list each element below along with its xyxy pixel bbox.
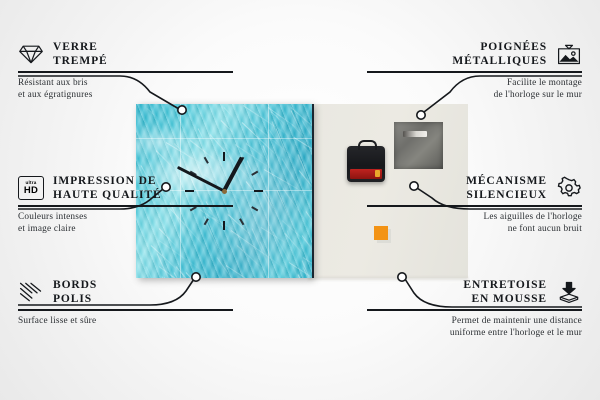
clock-tick-mark [204, 157, 209, 164]
feature-desc-line2: uniforme entre l'horloge et le mur [367, 327, 582, 339]
diamond-icon [18, 42, 44, 66]
feature-title: ENTRETOISE EN MOUSSE [463, 278, 547, 306]
feature-desc: Facilite le montage de l'horloge sur le … [367, 77, 582, 101]
feature-poignees-metalliques: POIGNÉES MÉTALLIQUES Facilite le montage… [367, 40, 582, 101]
feature-desc: Résistant aux bris et aux égratignures [18, 77, 233, 101]
feature-title-line2: EN MOUSSE [463, 292, 547, 306]
feature-header: ENTRETOISE EN MOUSSE [367, 278, 582, 306]
feature-title: BORDS POLIS [53, 278, 97, 306]
feature-desc-line1: Facilite le montage [367, 77, 582, 89]
feature-desc-line2: ne font aucun bruit [367, 223, 582, 235]
feature-desc-line2: de l'horloge sur le mur [367, 89, 582, 101]
feature-title-line1: POIGNÉES [452, 40, 547, 54]
feature-entretoise-en-mousse: ENTRETOISE EN MOUSSE Permet de maintenir… [367, 278, 582, 339]
feature-impression-haute-qualite: ultra HD IMPRESSION DE HAUTE QUALITÉ Cou… [18, 174, 233, 235]
divider [18, 309, 233, 311]
mechanism-bail [358, 140, 377, 150]
feature-mecanisme-silencieux: MÉCANISME SILENCIEUX Les aiguilles de l'… [367, 174, 582, 235]
feature-header: POIGNÉES MÉTALLIQUES [367, 40, 582, 68]
ultra-hd-badge-icon: ultra HD [18, 176, 44, 200]
feature-title-line1: MÉCANISME [466, 174, 547, 188]
feature-verre-trempe: VERRE TREMPÉ Résistant aux bris et aux é… [18, 40, 233, 101]
feature-header: VERRE TREMPÉ [18, 40, 233, 68]
feature-desc: Surface lisse et sûre [18, 315, 233, 327]
feature-desc: Les aiguilles de l'horloge ne font aucun… [367, 211, 582, 235]
feature-desc: Permet de maintenir une distance uniform… [367, 315, 582, 339]
feature-title-line2: POLIS [53, 292, 97, 306]
feature-title-line2: MÉTALLIQUES [452, 54, 547, 68]
feature-title: VERRE TREMPÉ [53, 40, 108, 68]
feature-desc-line1: Permet de maintenir une distance [367, 315, 582, 327]
feature-header: ultra HD IMPRESSION DE HAUTE QUALITÉ [18, 174, 233, 202]
divider [18, 205, 233, 207]
divider [367, 309, 582, 311]
feature-header: MÉCANISME SILENCIEUX [367, 174, 582, 202]
feature-bords-polis: BORDS POLIS Surface lisse et sûre [18, 278, 233, 327]
feature-desc-line1: Couleurs intenses [18, 211, 233, 223]
divider [367, 71, 582, 73]
divider [367, 205, 582, 207]
feature-header: BORDS POLIS [18, 278, 233, 306]
feature-title-line1: IMPRESSION DE [53, 174, 162, 188]
badge-main-label: HD [24, 186, 38, 196]
infographic-canvas: VERRE TREMPÉ Résistant aux bris et aux é… [0, 0, 600, 400]
foam-spacer-arrow-icon [556, 280, 582, 304]
feature-title-line1: VERRE [53, 40, 108, 54]
metal-hanger-plate [394, 122, 443, 169]
feature-title-line1: BORDS [53, 278, 97, 292]
gear-icon [556, 176, 582, 200]
feature-desc-line2: et aux égratignures [18, 89, 233, 101]
feature-title-line2: TREMPÉ [53, 54, 108, 68]
feature-title: MÉCANISME SILENCIEUX [466, 174, 547, 202]
hanger-slot [403, 131, 427, 137]
hanging-frame-icon [556, 42, 582, 66]
polished-edges-icon [18, 280, 44, 304]
feature-title: POIGNÉES MÉTALLIQUES [452, 40, 547, 68]
feature-title-line2: SILENCIEUX [466, 188, 547, 202]
feature-title-line2: HAUTE QUALITÉ [53, 188, 162, 202]
feature-title: IMPRESSION DE HAUTE QUALITÉ [53, 174, 162, 202]
feature-title-line1: ENTRETOISE [463, 278, 547, 292]
feature-desc-line1: Surface lisse et sûre [18, 315, 233, 327]
feature-desc: Couleurs intenses et image claire [18, 211, 233, 235]
feature-desc-line1: Résistant aux bris [18, 77, 233, 89]
feature-desc-line2: et image claire [18, 223, 233, 235]
feature-desc-line1: Les aiguilles de l'horloge [367, 211, 582, 223]
divider [18, 71, 233, 73]
